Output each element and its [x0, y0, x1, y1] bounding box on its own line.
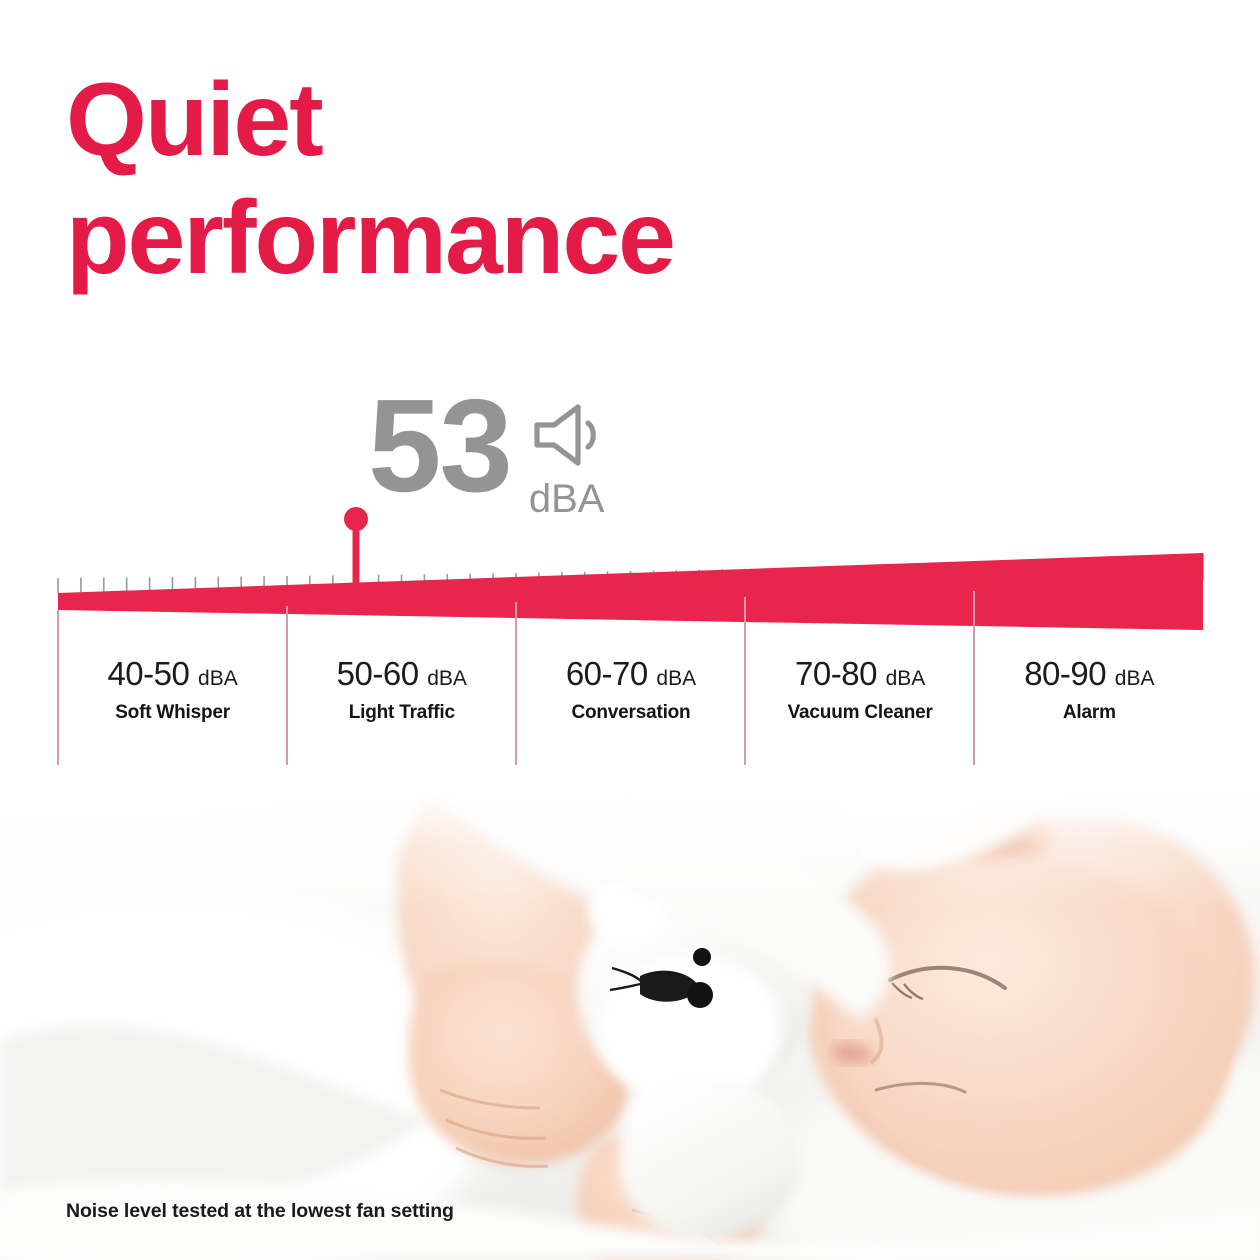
category-range: 40-50 dBA	[64, 655, 281, 693]
scale-category: 50-60 dBA Light Traffic	[287, 655, 516, 724]
category-name: Alarm	[981, 702, 1198, 724]
speaker-icon	[531, 402, 603, 473]
category-range-value: 70-80	[795, 655, 877, 692]
category-range-value: 80-90	[1024, 655, 1106, 692]
category-range-unit: dBA	[198, 667, 238, 690]
scale-category: 40-50 dBA Soft Whisper	[58, 655, 287, 724]
category-range: 50-60 dBA	[293, 655, 510, 693]
scale-category: 80-90 dBA Alarm	[975, 655, 1204, 724]
category-name: Conversation	[522, 702, 739, 724]
category-name: Vacuum Cleaner	[752, 702, 969, 724]
category-range-value: 50-60	[337, 655, 419, 692]
category-range-unit: dBA	[886, 667, 926, 690]
noise-reading-value: 53	[368, 388, 511, 504]
scale-category: 70-80 dBA Vacuum Cleaner	[746, 655, 975, 724]
category-range-value: 40-50	[107, 655, 189, 692]
category-name: Soft Whisper	[64, 702, 281, 724]
category-range-unit: dBA	[656, 667, 696, 690]
scale-category-list: 40-50 dBA Soft Whisper 50-60 dBA Light T…	[58, 655, 1204, 724]
infographic-page: Quiet performance 53 dBA	[0, 0, 1260, 1260]
category-range: 70-80 dBA	[752, 655, 969, 693]
scale-category: 60-70 dBA Conversation	[516, 655, 745, 724]
category-range: 80-90 dBA	[981, 655, 1198, 693]
page-title: Quiet performance	[66, 62, 966, 297]
category-range-value: 60-70	[566, 655, 648, 692]
category-name: Light Traffic	[293, 702, 510, 724]
photo-caption: Noise level tested at the lowest fan set…	[66, 1200, 454, 1223]
noise-scale	[0, 500, 1260, 790]
category-range: 60-70 dBA	[522, 655, 739, 693]
noise-wedge-bar	[58, 553, 1203, 630]
category-range-unit: dBA	[427, 667, 467, 690]
category-range-unit: dBA	[1115, 667, 1155, 690]
baby-photo	[0, 790, 1260, 1260]
